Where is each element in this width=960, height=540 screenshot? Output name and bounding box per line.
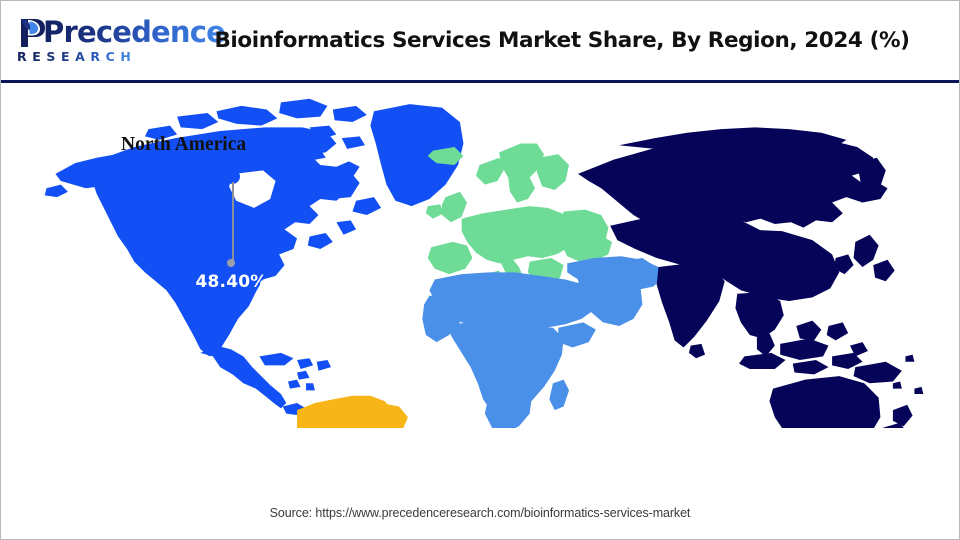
source-caption: Source: https://www.precedenceresearch.c…: [1, 506, 959, 520]
page-title: Bioinformatics Services Market Share, By…: [181, 1, 951, 80]
precedence-research-logo: Precedence RESEARCH: [15, 15, 175, 71]
map-region-north-america: [45, 99, 464, 416]
world-map-svg: [41, 88, 936, 428]
map-region-middle-east-africa: [422, 256, 664, 428]
logo-subtext: RESEARCH: [17, 49, 136, 65]
chart-figure: Precedence RESEARCH Bioinformatics Servi…: [0, 0, 960, 540]
figure-header: Precedence RESEARCH Bioinformatics Servi…: [1, 1, 959, 83]
world-map-container: North America 48.40%: [1, 86, 959, 496]
map-region-latin-america: [297, 396, 408, 428]
